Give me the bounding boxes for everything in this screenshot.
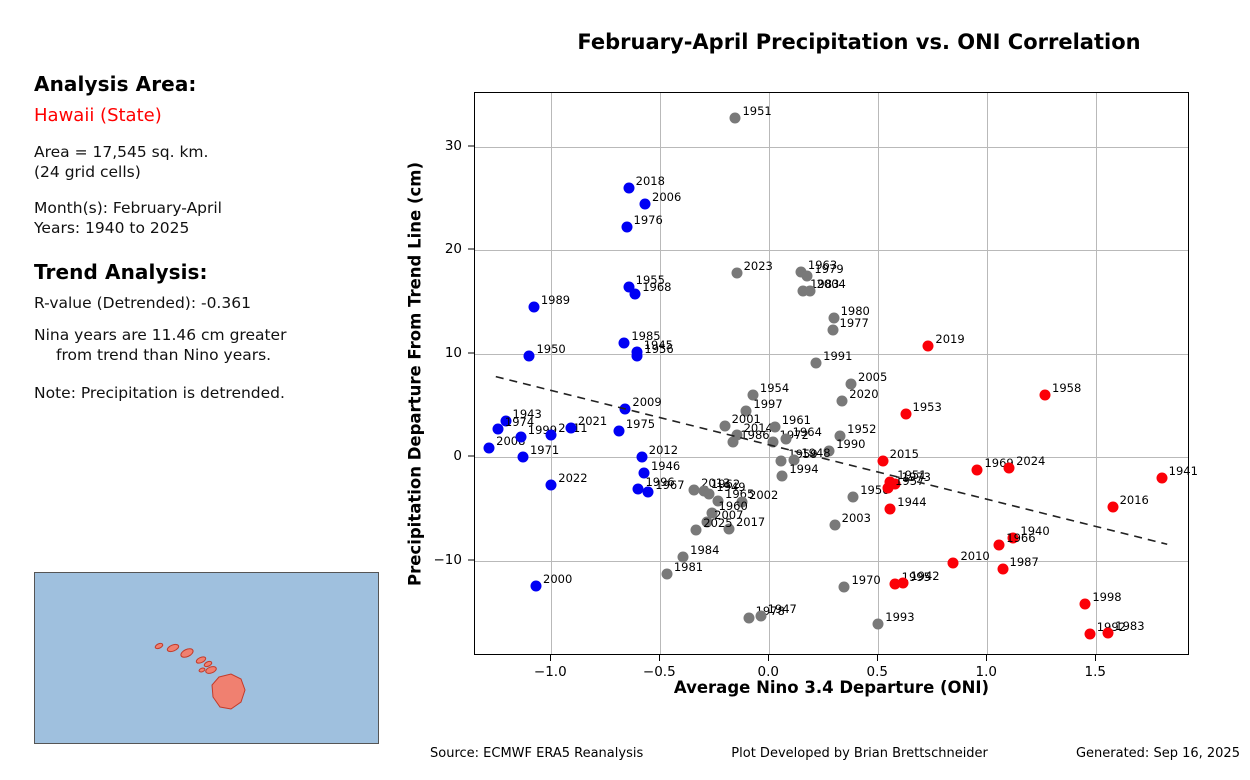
area-size-line: Area = 17,545 sq. km. xyxy=(34,142,404,162)
chart-title: February-April Precipitation vs. ONI Cor… xyxy=(474,30,1244,54)
y-tick-label: 0 xyxy=(402,448,462,464)
footer-source: Source: ECMWF ERA5 Reanalysis xyxy=(430,746,643,761)
chart-footer: Source: ECMWF ERA5 Reanalysis Plot Devel… xyxy=(430,746,1240,761)
months-line: Month(s): February-April xyxy=(34,198,404,218)
grid-cells-line: (24 grid cells) xyxy=(34,162,404,182)
x-tick-mark xyxy=(550,655,551,661)
footer-developer: Plot Developed by Brian Brettschneider xyxy=(731,746,988,761)
y-tick-mark xyxy=(468,456,474,457)
x-tick-mark xyxy=(659,655,660,661)
y-tick-mark xyxy=(468,352,474,353)
y-tick-label: 20 xyxy=(402,241,462,257)
analysis-area-heading: Analysis Area: xyxy=(34,72,404,96)
analysis-area-map xyxy=(34,572,379,744)
detrend-note-line: Note: Precipitation is detrended. xyxy=(34,383,404,403)
hawaii-map-svg xyxy=(34,572,379,744)
x-axis-label: Average Nino 3.4 Departure (ONI) xyxy=(474,678,1189,697)
x-tick-mark xyxy=(986,655,987,661)
map-ocean xyxy=(35,573,378,743)
r-value-line: R-value (Detrended): -0.361 xyxy=(34,293,404,313)
nina-comparison-line-1: Nina years are 11.46 cm greater xyxy=(34,325,404,345)
y-tick-label: 10 xyxy=(402,345,462,361)
footer-generated: Generated: Sep 16, 2025 xyxy=(1076,746,1240,761)
nina-comparison-line-2: from trend than Nino years. xyxy=(34,345,404,365)
y-tick-mark xyxy=(468,145,474,146)
analysis-info-panel: Analysis Area: Hawaii (State) Area = 17,… xyxy=(34,72,404,403)
scatter-plot: 2018200619761955196819891985194519561950… xyxy=(474,92,1189,655)
x-tick-mark xyxy=(877,655,878,661)
y-tick-label: 30 xyxy=(402,138,462,154)
trend-analysis-heading: Trend Analysis: xyxy=(34,260,404,284)
x-tick-mark xyxy=(1095,655,1096,661)
x-tick-mark xyxy=(768,655,769,661)
y-tick-mark xyxy=(468,559,474,560)
trend-line-svg xyxy=(474,92,1189,655)
analysis-area-name: Hawaii (State) xyxy=(34,105,404,126)
y-axis-label-text: Precipitation Departure From Trend Line … xyxy=(406,162,425,586)
y-tick-label: −10 xyxy=(402,552,462,568)
y-axis-label: Precipitation Departure From Trend Line … xyxy=(403,92,427,655)
years-line: Years: 1940 to 2025 xyxy=(34,218,404,238)
y-tick-mark xyxy=(468,249,474,250)
trend-line xyxy=(496,377,1167,545)
